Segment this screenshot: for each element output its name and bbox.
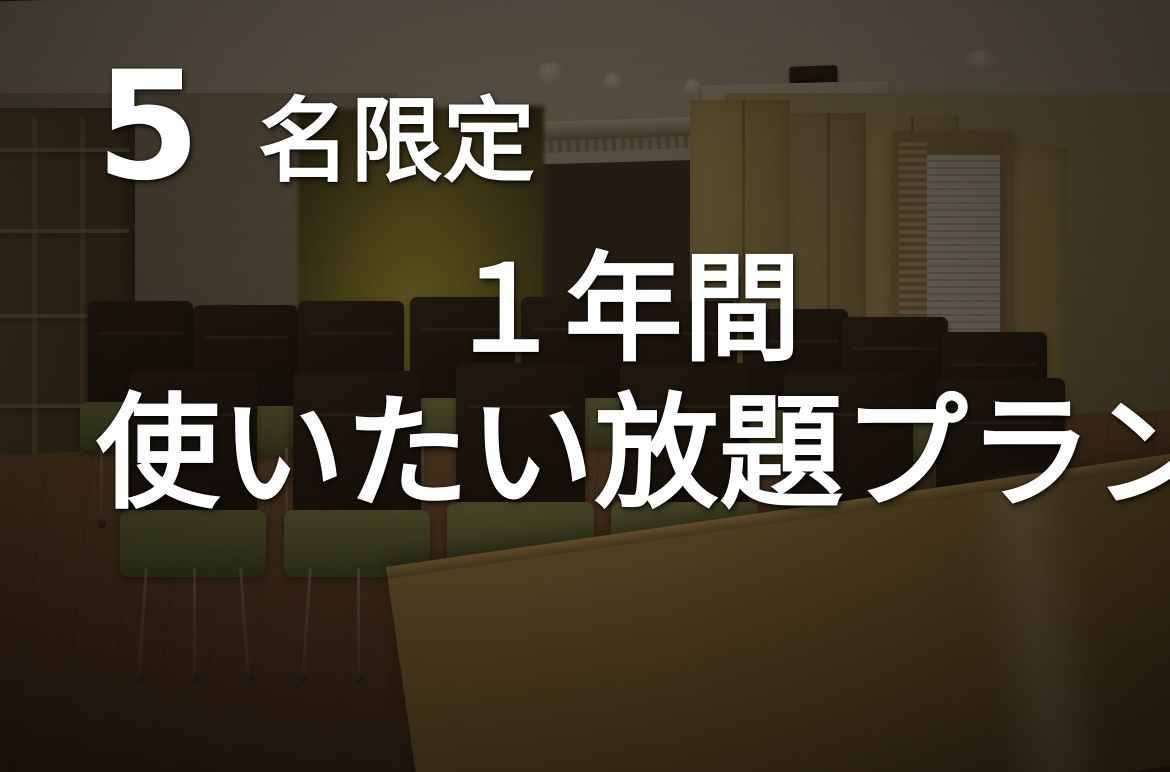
headline-count-label: 名限定 [258,96,535,188]
promo-banner: 5 名限定 １年間 使いたい放題プラン [0,0,1170,772]
headline-text-layer: 5 名限定 １年間 使いたい放題プラン [0,0,1170,772]
headline-term: １年間 [446,250,802,368]
headline-count-number: 5 [96,52,201,202]
headline-plan: 使いたい放題プラン [96,392,1170,516]
